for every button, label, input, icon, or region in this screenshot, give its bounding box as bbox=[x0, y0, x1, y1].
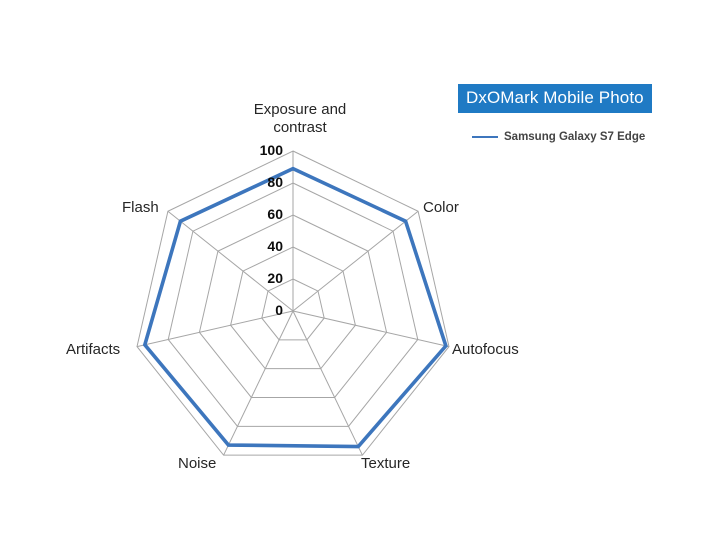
radar-spoke-4 bbox=[224, 311, 293, 455]
radial-tick-20: 20 bbox=[267, 270, 283, 286]
axis-label-exposure-line-2: contrast bbox=[245, 119, 355, 137]
axis-label-noise: Noise bbox=[178, 455, 216, 473]
slide-canvas: DxOMark Mobile Photo Samsung Galaxy S7 E… bbox=[0, 0, 706, 548]
radar-grid-spokes bbox=[137, 151, 449, 455]
radial-tick-100: 100 bbox=[260, 142, 283, 158]
radial-tick-60: 60 bbox=[267, 206, 283, 222]
radial-tick-80: 80 bbox=[267, 174, 283, 190]
radar-spoke-2 bbox=[293, 311, 449, 347]
radar-series-samsung-galaxy-s7-edge bbox=[145, 169, 446, 447]
chart-legend: Samsung Galaxy S7 Edge bbox=[472, 131, 645, 143]
radar-spoke-3 bbox=[293, 311, 362, 455]
legend-label-samsung-galaxy-s7-edge: Samsung Galaxy S7 Edge bbox=[504, 131, 645, 143]
axis-label-color: Color bbox=[423, 199, 459, 217]
axis-label-exposure-and-contrast: Exposure and contrast bbox=[245, 101, 355, 136]
radar-chart bbox=[0, 0, 706, 548]
radar-spoke-5 bbox=[137, 311, 293, 347]
radial-tick-40: 40 bbox=[267, 238, 283, 254]
radial-tick-0: 0 bbox=[275, 302, 283, 318]
radar-spoke-6 bbox=[168, 211, 293, 311]
chart-title: DxOMark Mobile Photo bbox=[458, 84, 652, 113]
legend-line-swatch bbox=[472, 136, 498, 138]
axis-label-flash: Flash bbox=[122, 199, 159, 217]
axis-label-texture: Texture bbox=[361, 455, 410, 473]
axis-label-autofocus: Autofocus bbox=[452, 341, 519, 359]
radar-spoke-1 bbox=[293, 211, 418, 311]
axis-label-artifacts: Artifacts bbox=[66, 341, 120, 359]
axis-label-exposure-line-1: Exposure and bbox=[245, 101, 355, 119]
